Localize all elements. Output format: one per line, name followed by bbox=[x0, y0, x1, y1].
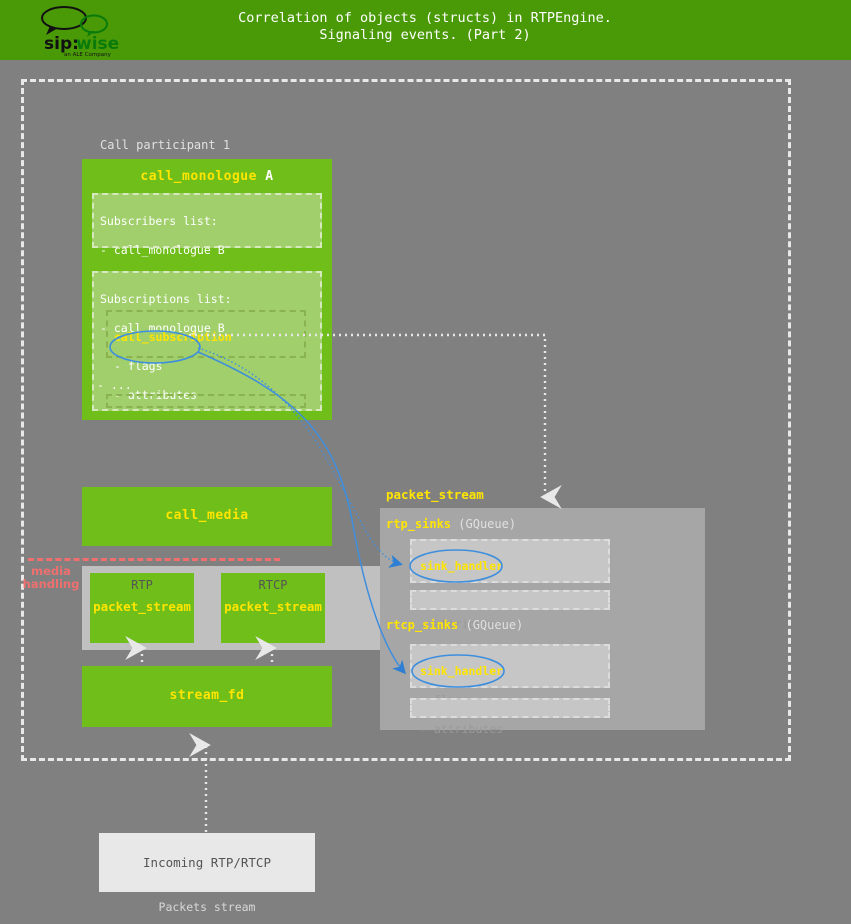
packets-stream-caption: Packets stream bbox=[99, 900, 315, 914]
rtcp-caption: RTCP bbox=[221, 573, 325, 592]
call-monologue-suffix: A bbox=[257, 169, 274, 184]
call-subscription-keyword: call_subscription bbox=[114, 330, 298, 345]
rtcp-sink-handler-box[interactable]: sink_handler - flags - attributes bbox=[410, 644, 610, 688]
rtp-sink-empty-slot[interactable] bbox=[410, 590, 610, 610]
rtp-sinks-type: (GQueue) bbox=[458, 517, 516, 531]
rtp-sinks-name: rtp_sinks bbox=[386, 517, 451, 531]
app-header: sip: wise an ALE Company Correlation of … bbox=[0, 0, 851, 60]
rtcp-sinks-type: (GQueue) bbox=[465, 618, 523, 632]
rtcp-sink-handler-keyword: sink_handler bbox=[420, 664, 600, 679]
stream-fd-box[interactable]: stream_fd bbox=[82, 666, 332, 727]
call-media-box[interactable]: call_media bbox=[82, 487, 332, 546]
stream-fd-title: stream_fd bbox=[82, 666, 332, 703]
svg-text:an ALE Company: an ALE Company bbox=[64, 52, 112, 58]
subscribers-item-0: - call_monologue B bbox=[100, 243, 314, 258]
sipwise-logo: sip: wise an ALE Company bbox=[32, 4, 127, 58]
rtcp-sink-empty-slot[interactable] bbox=[410, 698, 610, 718]
rtp-packet-stream-box[interactable]: RTP packet_stream bbox=[90, 573, 194, 643]
call-media-title: call_media bbox=[82, 487, 332, 523]
svg-text:sip:: sip: bbox=[44, 34, 79, 54]
rtcp-sink-handler-attributes: - attributes bbox=[420, 722, 600, 737]
title-line-2: Signaling events. (Part 2) bbox=[319, 27, 530, 43]
incoming-label: Incoming RTP/RTCP bbox=[143, 855, 271, 870]
rtcp-packet-stream-box[interactable]: RTCP packet_stream bbox=[221, 573, 325, 643]
rtp-sinks-heading: rtp_sinks (GQueue) bbox=[386, 517, 516, 531]
call-subscription-empty-slot[interactable] bbox=[106, 394, 306, 408]
rtp-caption: RTP bbox=[90, 573, 194, 592]
rtcp-sinks-heading: rtcp_sinks (GQueue) bbox=[386, 618, 523, 632]
svg-text:wise: wise bbox=[76, 34, 119, 54]
rtcp-title: packet_stream bbox=[221, 592, 325, 614]
call-monologue-title: call_monologue A bbox=[82, 159, 332, 184]
subscriptions-item-1: - ... bbox=[97, 378, 132, 392]
rtp-sink-handler-keyword: sink_handler bbox=[420, 559, 600, 574]
rtp-sink-handler-box[interactable]: sink_handler - flags - attributes bbox=[410, 539, 610, 583]
call-participant-label: Call participant 1 bbox=[100, 138, 230, 152]
rtcp-sinks-name: rtcp_sinks bbox=[386, 618, 458, 632]
subscribers-heading: Subscribers list: bbox=[100, 214, 314, 229]
call-subscription-box[interactable]: call_subscription - flags - attributes bbox=[106, 310, 306, 358]
media-handling-label: media handling bbox=[22, 565, 80, 591]
page-title: Correlation of objects (structs) in RTPE… bbox=[150, 10, 700, 44]
subscribers-list-panel[interactable]: Subscribers list: - call_monologue B - .… bbox=[92, 193, 322, 248]
call-monologue-keyword: call_monologue bbox=[140, 169, 257, 184]
incoming-rtp-rtcp-box[interactable]: Incoming RTP/RTCP bbox=[99, 833, 315, 892]
media-handling-divider bbox=[28, 558, 280, 561]
rtp-title: packet_stream bbox=[90, 592, 194, 614]
packet-stream-label: packet_stream bbox=[386, 487, 484, 502]
subscriptions-heading: Subscriptions list: bbox=[100, 292, 314, 307]
call-subscription-flags: - flags bbox=[114, 359, 298, 374]
title-line-1: Correlation of objects (structs) in RTPE… bbox=[238, 10, 612, 26]
